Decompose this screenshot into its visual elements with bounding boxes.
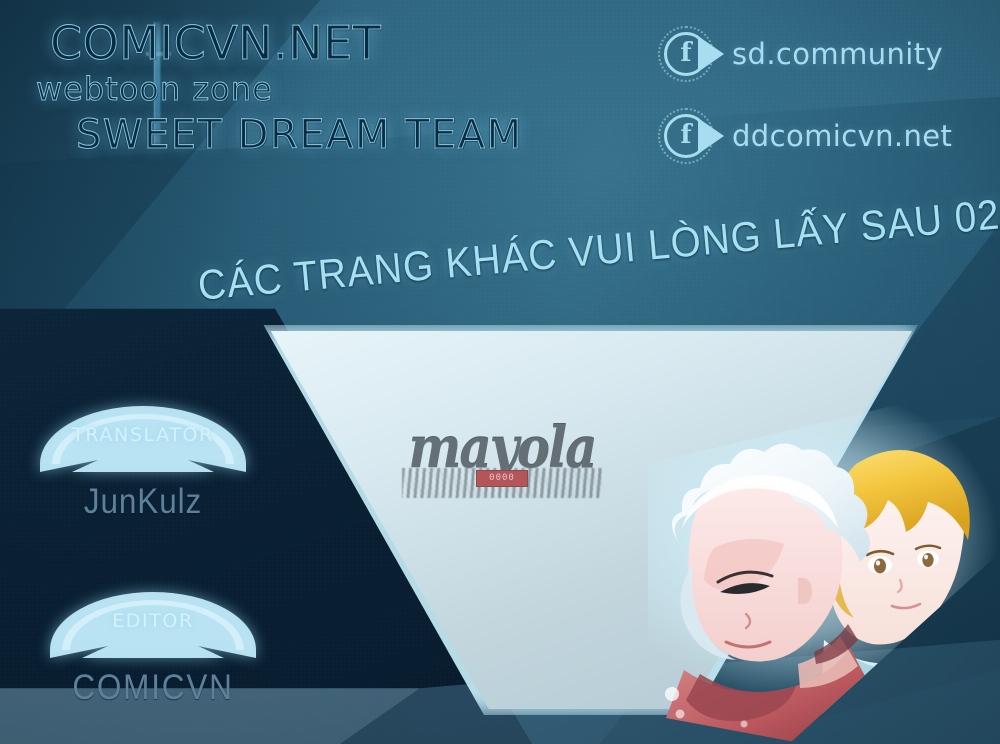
- credit-name-editor: COMICVN: [59, 668, 248, 708]
- facebook-f-glyph: f: [680, 40, 691, 66]
- facebook-f-glyph: f: [680, 122, 691, 148]
- brand-line-team: SWEET DREAM TEAM: [76, 112, 523, 158]
- facebook-badge: f: [652, 105, 724, 167]
- sparkle: [741, 721, 748, 728]
- facebook-badge: f: [652, 23, 724, 85]
- credit-role-translator: TRANSLATOR: [38, 424, 248, 446]
- credit-translator: TRANSLATOR JunKulz: [38, 402, 248, 522]
- credits-page: mayola 0000 COMICVN.NET webtoon zone SWE…: [0, 0, 1000, 744]
- arc-ribbon: EDITOR: [48, 588, 258, 662]
- watermark-badge: 0000: [476, 470, 528, 487]
- brand-line-tagline: webtoon zone: [36, 70, 273, 108]
- credit-name-translator: JunKulz: [49, 482, 238, 522]
- sparkle: [676, 710, 685, 719]
- watermark-badge-text: 0000: [477, 471, 527, 486]
- arrow-right-icon: [698, 118, 724, 154]
- arc-ribbon: TRANSLATOR: [38, 402, 248, 476]
- mayola-watermark: mayola 0000: [392, 412, 612, 512]
- social-label-ddcomicvn: ddcomicvn.net: [732, 119, 952, 153]
- credit-role-editor: EDITOR: [48, 610, 258, 632]
- social-link-ddcomicvn[interactable]: f ddcomicvn.net: [652, 104, 982, 168]
- brand-logo: COMICVN.NET webtoon zone SWEET DREAM TEA…: [28, 16, 628, 166]
- sparkle: [665, 687, 679, 701]
- social-links: f sd.community f ddcomicvn.net: [652, 22, 982, 186]
- social-label-sd-community: sd.community: [732, 37, 943, 71]
- social-link-sd-community[interactable]: f sd.community: [652, 22, 982, 86]
- credit-editor: EDITOR COMICVN: [48, 588, 258, 708]
- arrow-right-icon: [698, 36, 724, 72]
- brand-line-site: COMICVN.NET: [50, 16, 381, 70]
